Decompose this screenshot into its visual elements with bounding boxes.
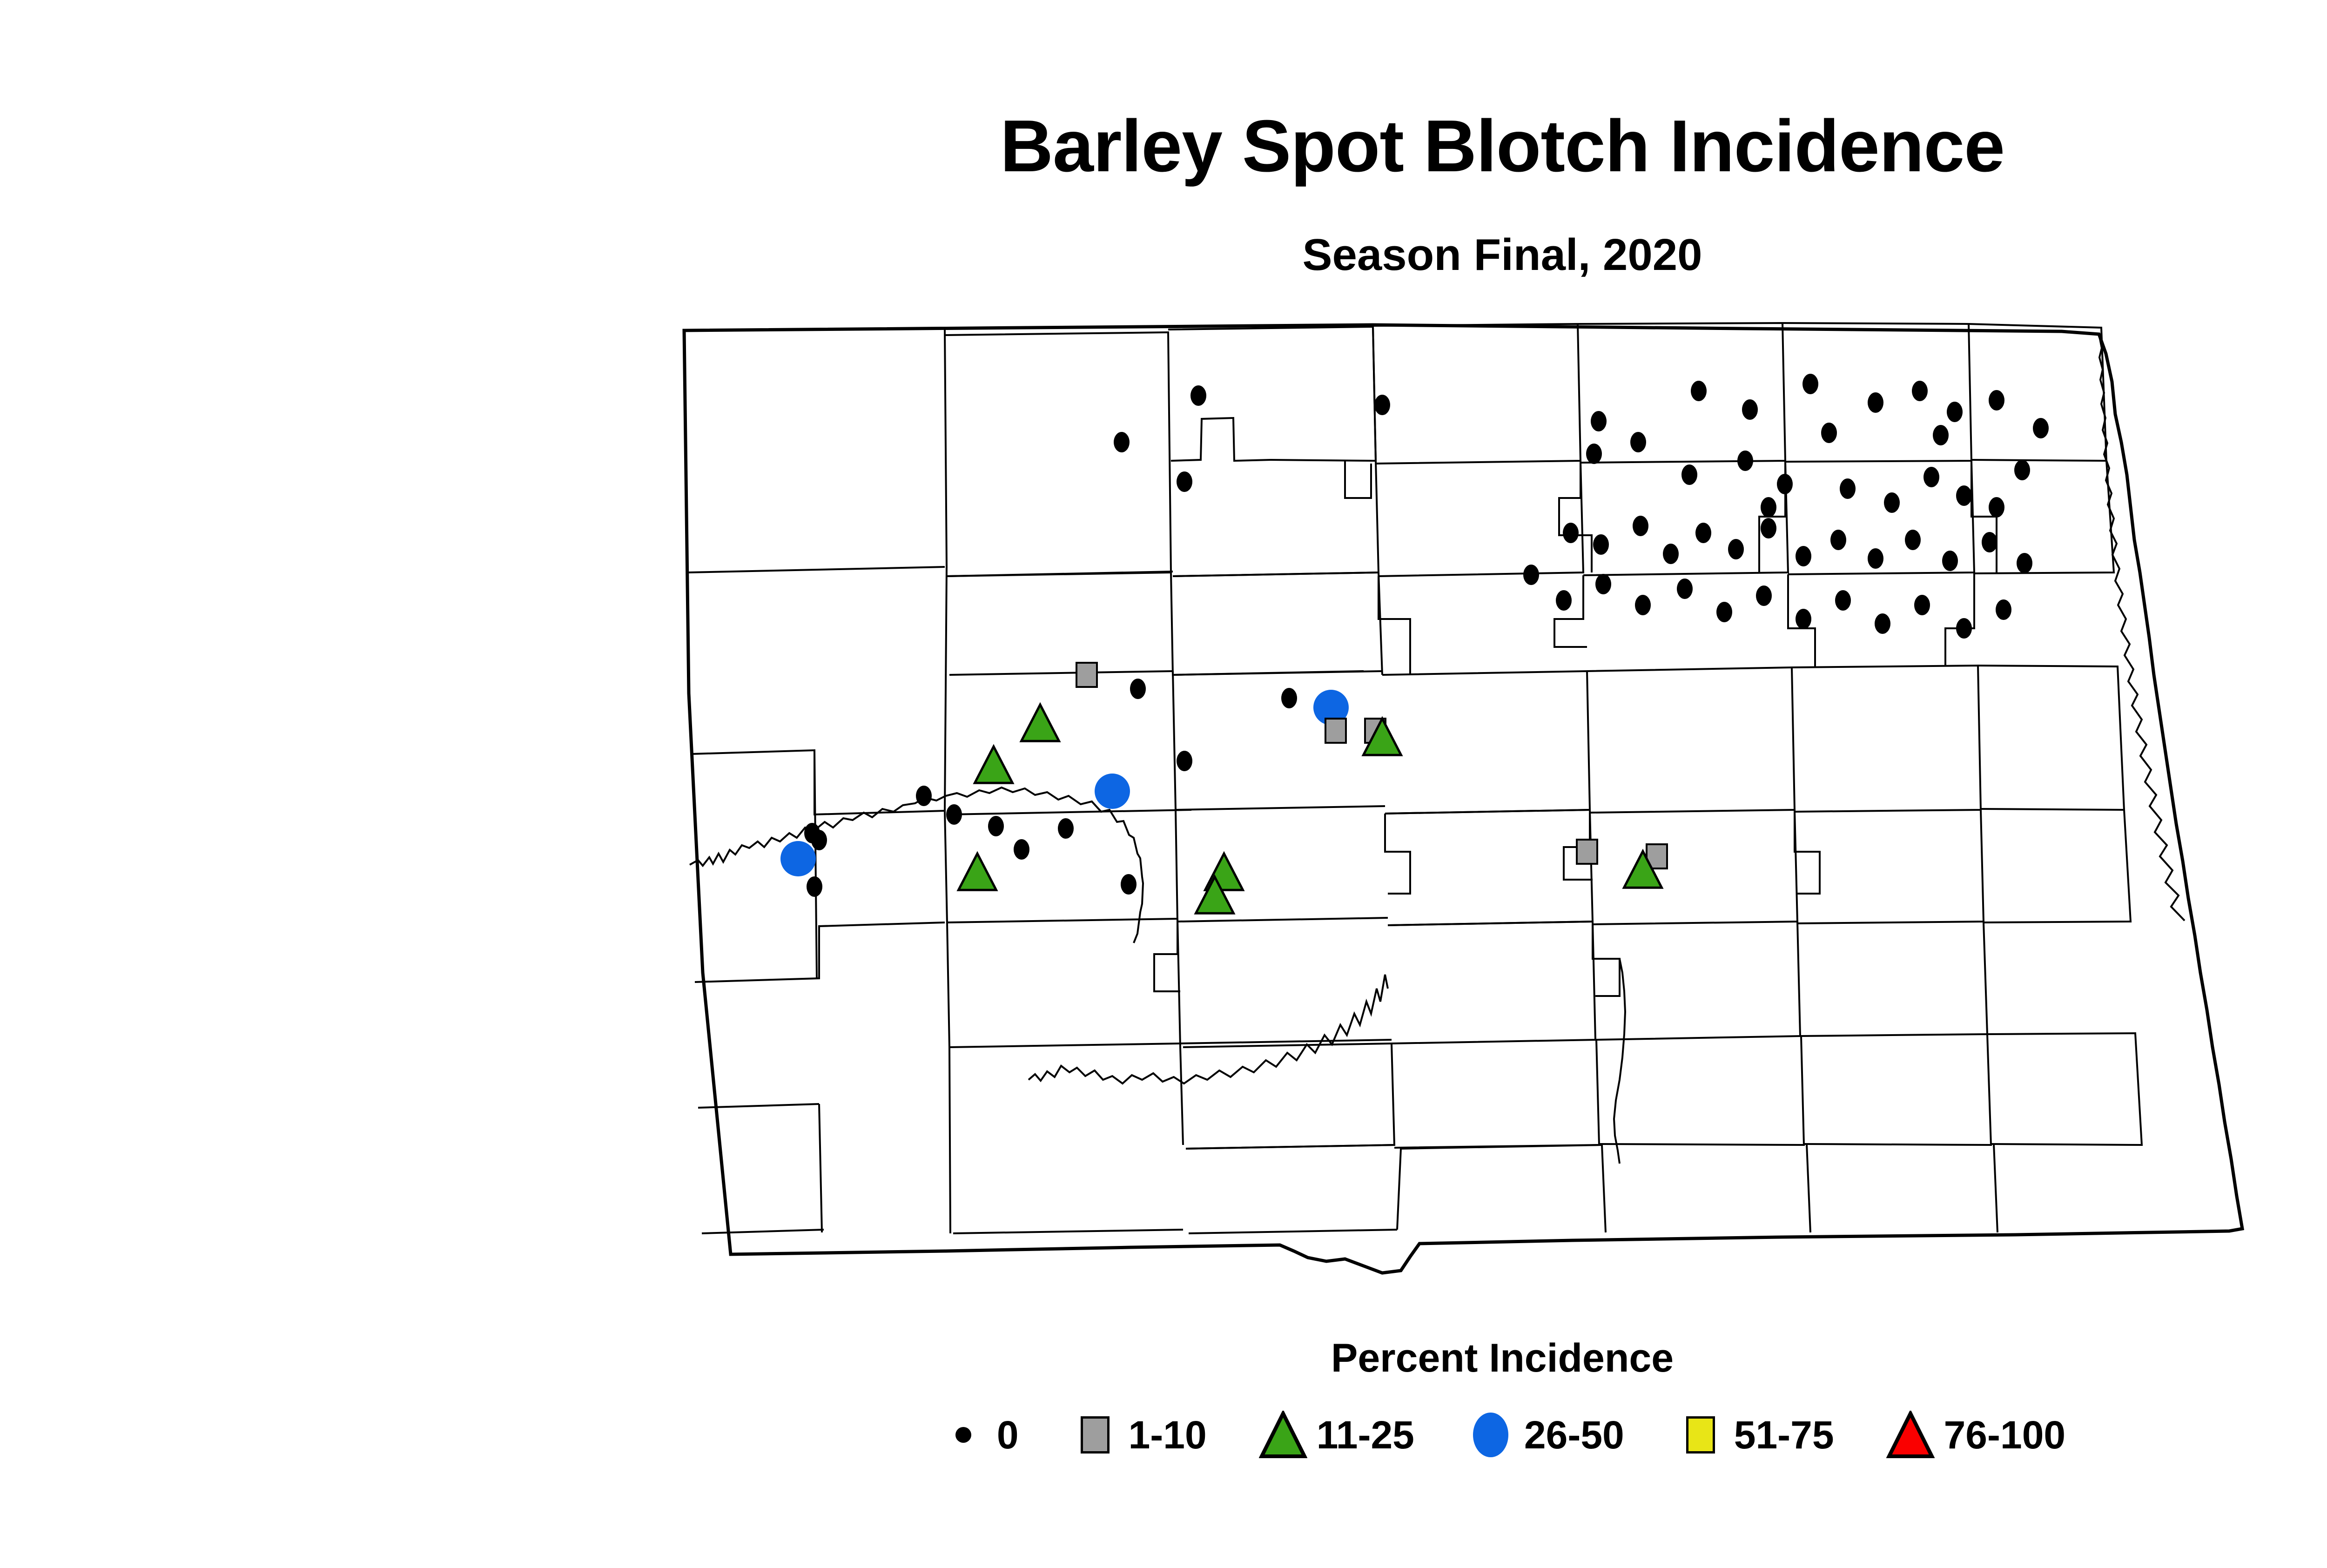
north-dakota-county-map[interactable] [619, 321, 2257, 1312]
survey-point-0[interactable] [1821, 423, 1837, 443]
survey-point-0[interactable] [1982, 532, 1997, 552]
legend-item-label: 26-50 [1524, 1415, 1624, 1454]
red-triangle-icon [1886, 1411, 1935, 1459]
legend-item[interactable]: 0 [939, 1411, 1019, 1459]
survey-point-0[interactable] [1802, 374, 1818, 394]
survey-point-0[interactable] [1875, 613, 1890, 634]
figure-canvas: Barley Spot Blotch Incidence Season Fina… [0, 0, 2327, 1568]
legend-item[interactable]: 11-25 [1259, 1411, 1414, 1459]
survey-point-0[interactable] [1593, 534, 1609, 555]
survey-point-0[interactable] [1947, 402, 1963, 422]
survey-point-0[interactable] [1796, 609, 1811, 629]
survey-point-0[interactable] [1923, 467, 1939, 487]
survey-point-0[interactable] [811, 830, 827, 850]
survey-point-0[interactable] [1777, 474, 1793, 494]
survey-point-1-10[interactable] [1076, 663, 1097, 687]
survey-point-0[interactable] [1677, 579, 1693, 599]
survey-point-0[interactable] [1742, 399, 1758, 420]
survey-point-0[interactable] [1695, 523, 1711, 543]
survey-point-0[interactable] [1989, 390, 2004, 411]
legend-item-label: 1-10 [1129, 1415, 1207, 1454]
survey-point-0[interactable] [1630, 432, 1646, 452]
page-subtitle: Season Final, 2020 [0, 233, 2327, 277]
survey-point-0[interactable] [1633, 516, 1648, 536]
survey-point-26-50[interactable] [780, 841, 816, 876]
survey-point-0[interactable] [1830, 530, 1846, 550]
legend-item-label: 0 [997, 1415, 1019, 1454]
survey-point-0[interactable] [2014, 460, 2030, 480]
yellow-square-icon [1676, 1411, 1725, 1459]
survey-point-0[interactable] [1840, 478, 1856, 499]
survey-point-0[interactable] [1374, 395, 1390, 415]
survey-point-0[interactable] [2033, 418, 2049, 438]
survey-point-0[interactable] [1058, 818, 1074, 839]
survey-point-0[interactable] [1635, 595, 1651, 615]
survey-point-0[interactable] [1014, 839, 1029, 860]
legend-items: 01-1011-2526-5051-7576-100 [0, 1411, 2327, 1459]
survey-point-0[interactable] [1761, 497, 1776, 518]
survey-point-0[interactable] [1956, 618, 1972, 639]
legend-item[interactable]: 1-10 [1071, 1411, 1207, 1459]
survey-point-0[interactable] [2017, 553, 2032, 573]
black-dot-icon [939, 1411, 988, 1459]
survey-point-0[interactable] [1563, 523, 1579, 543]
survey-point-0[interactable] [1996, 599, 2011, 620]
survey-point-0[interactable] [1121, 874, 1137, 895]
survey-point-0[interactable] [1114, 432, 1130, 452]
survey-point-0[interactable] [1989, 497, 2004, 518]
survey-point-0[interactable] [1868, 392, 1883, 413]
survey-point-0[interactable] [1591, 411, 1607, 431]
legend-item-label: 11-25 [1317, 1415, 1414, 1454]
survey-point-0[interactable] [988, 816, 1004, 836]
legend-item[interactable]: 51-75 [1676, 1411, 1834, 1459]
survey-point-0[interactable] [1933, 425, 1949, 445]
survey-point-1-10[interactable] [1325, 719, 1346, 743]
survey-point-0[interactable] [1756, 585, 1772, 606]
survey-point-0[interactable] [1691, 381, 1707, 401]
page-title: Barley Spot Blotch Incidence [0, 109, 2327, 183]
survey-point-0[interactable] [1595, 574, 1611, 594]
survey-point-0[interactable] [1716, 602, 1732, 622]
legend-title: Percent Incidence [0, 1338, 2327, 1378]
survey-point-0[interactable] [1281, 688, 1297, 708]
green-triangle-icon [1259, 1411, 1307, 1459]
survey-point-0[interactable] [1868, 548, 1883, 569]
survey-point-0[interactable] [1190, 385, 1206, 406]
legend-item-label: 51-75 [1734, 1415, 1834, 1454]
survey-point-0[interactable] [1761, 518, 1776, 538]
survey-point-0[interactable] [1737, 451, 1753, 471]
survey-point-1-10[interactable] [1577, 840, 1597, 864]
survey-point-0[interactable] [1942, 551, 1958, 571]
legend-item[interactable]: 76-100 [1886, 1411, 2066, 1459]
survey-point-0[interactable] [916, 786, 932, 806]
gray-square-icon [1071, 1411, 1119, 1459]
survey-point-0[interactable] [1956, 485, 1972, 506]
legend: Percent Incidence 01-1011-2526-5051-7576… [0, 1338, 2327, 1459]
survey-point-0[interactable] [946, 804, 962, 825]
legend-item-label: 76-100 [1944, 1415, 2066, 1454]
survey-point-0[interactable] [1905, 530, 1921, 550]
survey-point-0[interactable] [1728, 539, 1744, 559]
survey-point-26-50[interactable] [1095, 774, 1130, 809]
survey-point-0[interactable] [1556, 590, 1572, 611]
survey-point-0[interactable] [1681, 464, 1697, 485]
survey-point-0[interactable] [1884, 492, 1900, 513]
survey-point-0[interactable] [1177, 471, 1192, 492]
survey-point-0[interactable] [1796, 546, 1811, 566]
survey-point-0[interactable] [1523, 565, 1539, 585]
survey-point-0[interactable] [1586, 444, 1602, 464]
survey-point-0[interactable] [1130, 679, 1146, 699]
survey-point-0[interactable] [1835, 590, 1851, 611]
blue-circle-icon [1466, 1411, 1515, 1459]
survey-point-0[interactable] [1912, 381, 1928, 401]
survey-point-0[interactable] [807, 876, 822, 897]
legend-item[interactable]: 26-50 [1466, 1411, 1624, 1459]
survey-point-0[interactable] [1663, 544, 1679, 564]
survey-point-0[interactable] [1914, 595, 1930, 615]
survey-point-0[interactable] [1177, 751, 1192, 771]
